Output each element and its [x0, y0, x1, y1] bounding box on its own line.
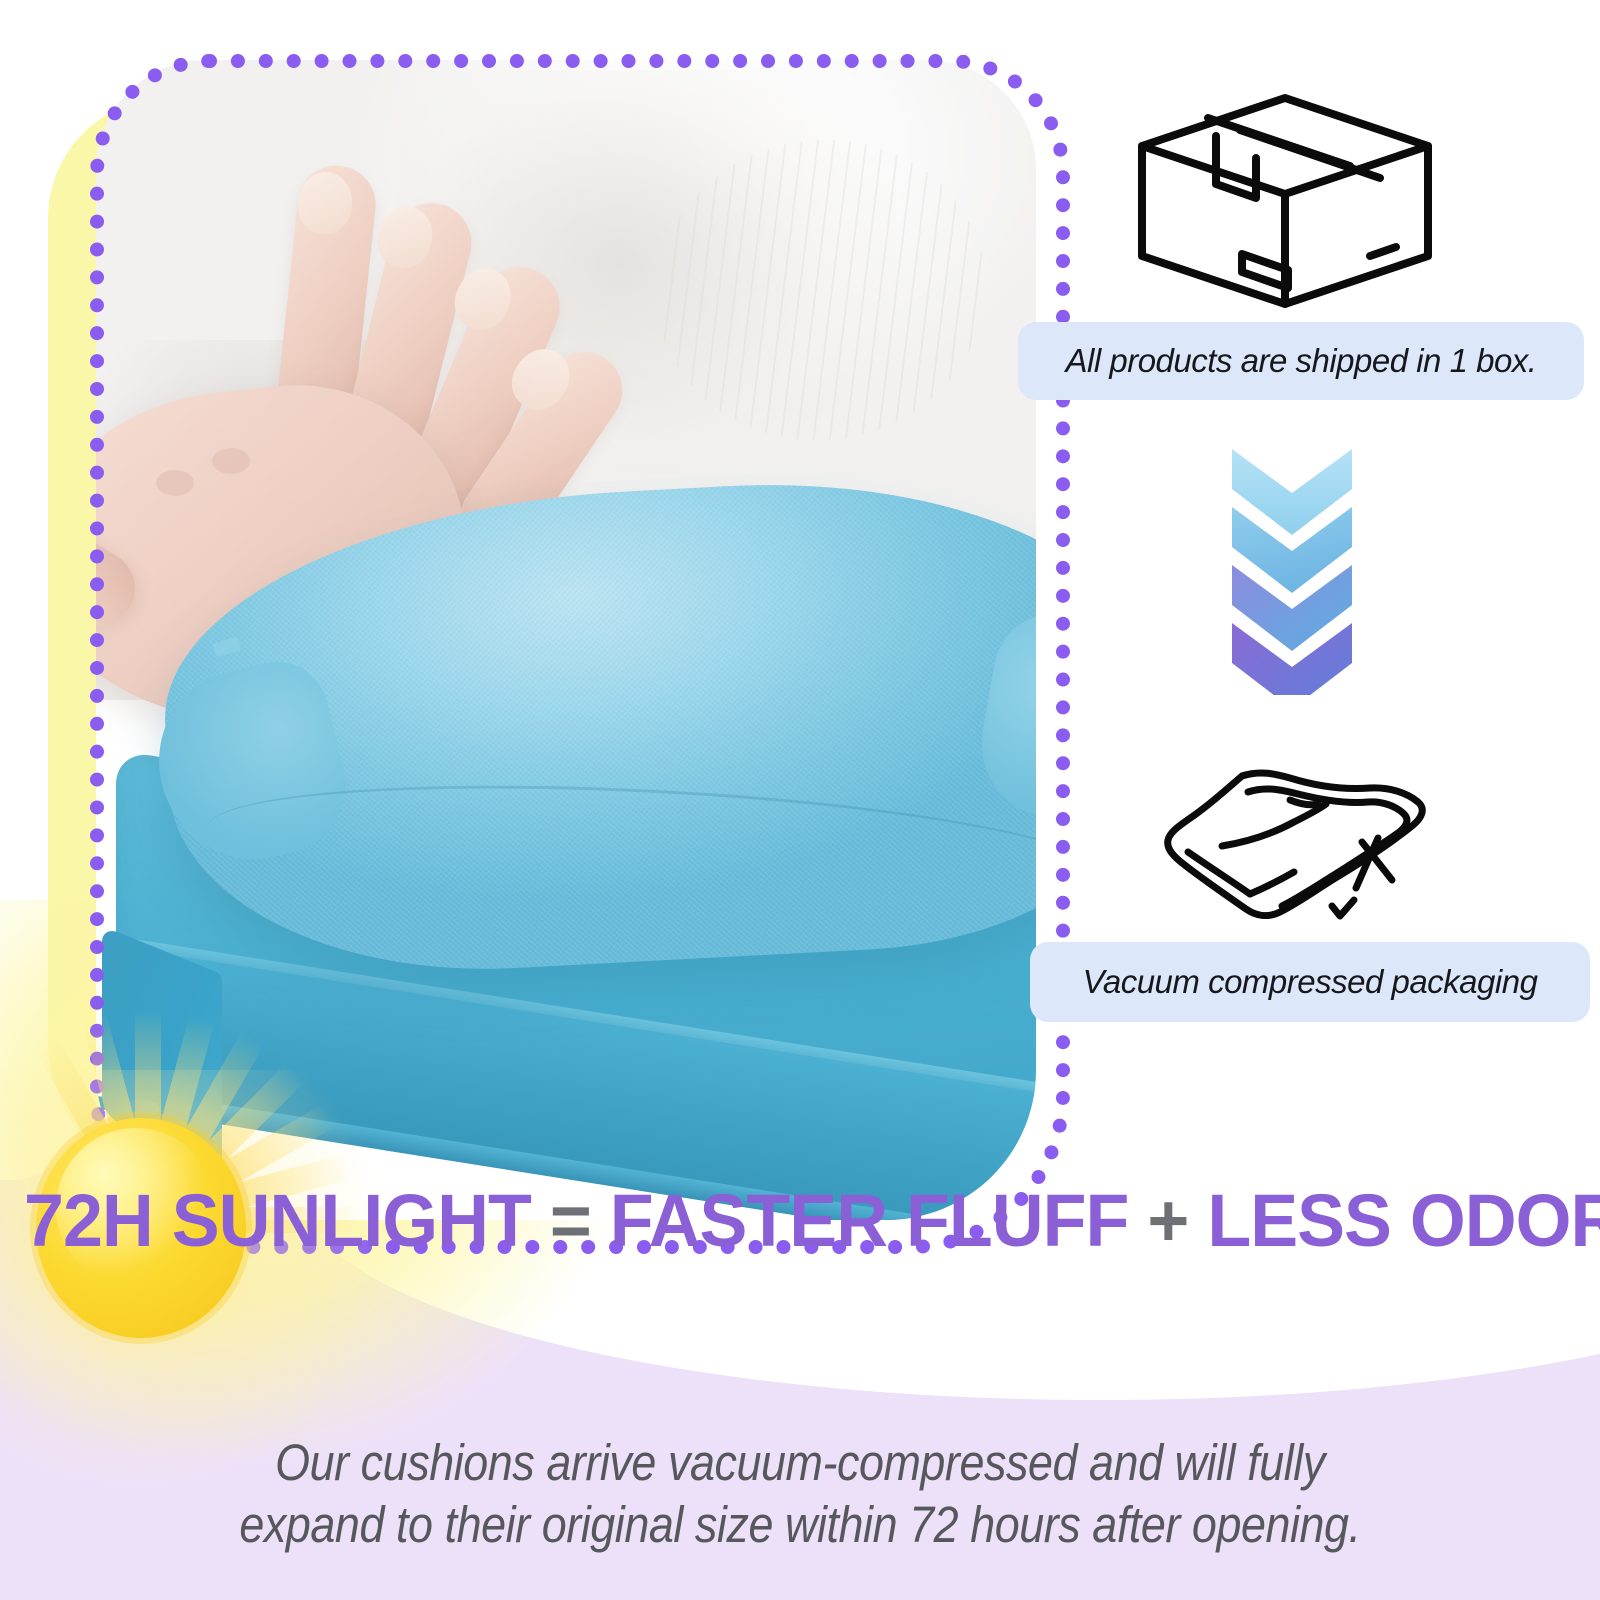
caption-line-1: Our cushions arrive vacuum-compressed an… — [184, 1432, 1416, 1494]
headline-part-2: FASTER FLUFF — [610, 1179, 1129, 1262]
packaging-callout: Vacuum compressed packaging — [1030, 942, 1590, 1022]
chevron-down-stack-icon — [1212, 445, 1372, 695]
cardboard-box-icon — [1130, 88, 1440, 313]
vacuum-sealed-bag-icon — [1130, 730, 1430, 925]
knuckle — [212, 448, 250, 474]
shipping-callout-text: All products are shipped in 1 box. — [1066, 342, 1537, 380]
top-back-pillow — [166, 490, 1036, 990]
headline-part-3: LESS ODOR — [1207, 1179, 1600, 1262]
headline: 72H SUNLIGHT = FASTER FLUFF + LESS ODOR — [24, 1178, 1576, 1263]
headline-operator-plus: + — [1147, 1179, 1188, 1262]
footer-caption: Our cushions arrive vacuum-compressed an… — [184, 1432, 1416, 1556]
caption-line-2: expand to their original size within 72 … — [184, 1494, 1416, 1556]
packaging-steps-column: All products are shipped in 1 box. — [1000, 0, 1600, 1120]
packaging-callout-text: Vacuum compressed packaging — [1083, 963, 1538, 1001]
infographic-canvas: All products are shipped in 1 box. — [0, 0, 1600, 1600]
headline-part-1: 72H SUNLIGHT — [24, 1179, 531, 1262]
shipping-callout: All products are shipped in 1 box. — [1018, 322, 1584, 400]
headline-operator-equals: = — [550, 1179, 591, 1262]
